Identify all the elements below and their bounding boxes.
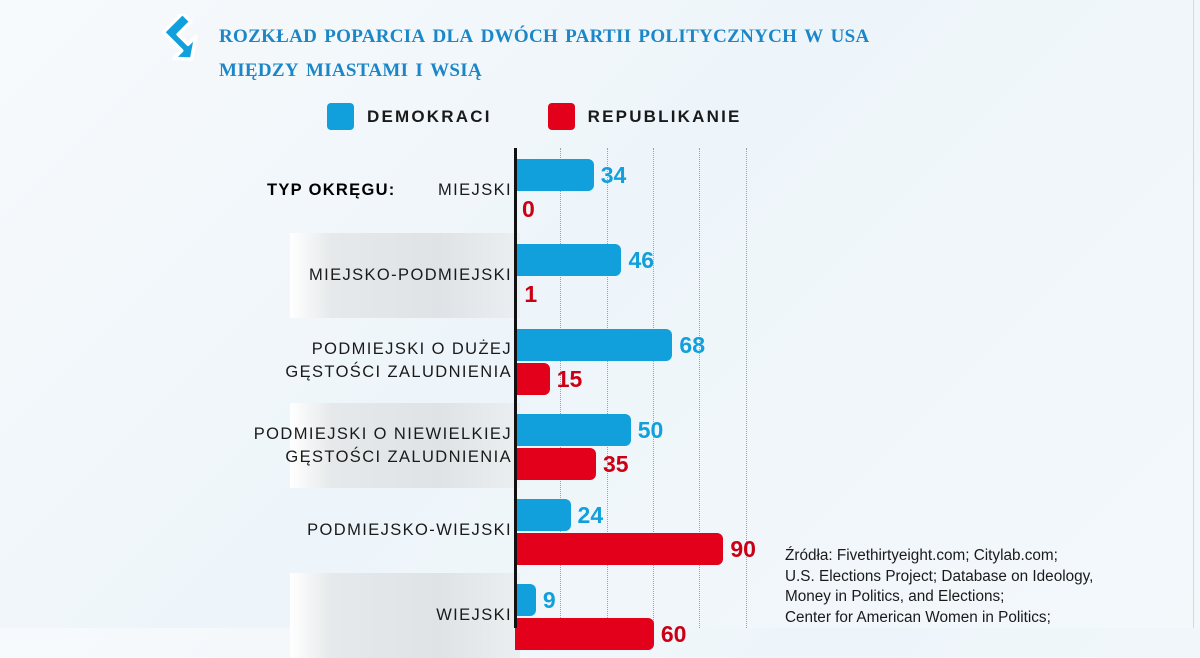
axis-category-tag: TYP OKRĘGU:: [267, 148, 396, 233]
category-label-line: PODMIEJSKO-WIEJSKI: [307, 519, 512, 542]
arrow-down-right-icon: [155, 14, 207, 66]
bar-group-rep[interactable]: 60: [515, 618, 686, 650]
bar-group-dem[interactable]: 68: [515, 329, 705, 361]
category-label: WIEJSKI: [436, 573, 512, 658]
bar-group-rep[interactable]: 35: [515, 448, 629, 480]
bar-value-dem: 50: [638, 417, 664, 444]
category-label-line: PODMIEJSKI O DUŻEJ: [312, 338, 512, 361]
chart-row: TYP OKRĘGU:MIEJSKI340: [0, 148, 1200, 233]
chart-row: MIEJSKO-PODMIEJSKI461: [0, 233, 1200, 318]
category-label-line: MIEJSKO-PODMIEJSKI: [309, 264, 512, 287]
legend-swatch-demokraci: [327, 103, 354, 130]
category-label: PODMIEJSKO-WIEJSKI: [307, 488, 512, 573]
bar-group-rep[interactable]: 15: [515, 363, 582, 395]
bar-group-rep[interactable]: 90: [515, 533, 756, 565]
category-label-line: PODMIEJSKI O NIEWIELKIEJ: [254, 423, 512, 446]
category-label-line: GĘSTOŚCI ZALUDNIENIA: [285, 446, 512, 469]
page-title-line1: Rozkład poparcia dla dwóch partii polity…: [219, 16, 870, 50]
bar-rep[interactable]: [515, 618, 654, 650]
category-label-line: WIEJSKI: [436, 604, 512, 627]
source-line-3: Money in Politics, and Elections;: [785, 587, 1185, 608]
bar-value-rep: 60: [661, 621, 687, 648]
bar-dem[interactable]: [515, 329, 672, 361]
chart-legend: DEMOKRACI REPUBLIKANIE: [327, 103, 742, 130]
bar-group-rep[interactable]: 1: [515, 278, 537, 310]
bar-rep[interactable]: [515, 533, 723, 565]
bar-value-dem: 46: [628, 247, 654, 274]
category-label: MIEJSKI: [438, 148, 512, 233]
bar-dem[interactable]: [515, 584, 536, 616]
source-line-2: U.S. Elections Project; Database on Ideo…: [785, 567, 1185, 588]
category-label-line: MIEJSKI: [438, 179, 512, 202]
page-title-line2: między miastami i wsią: [219, 50, 870, 84]
bar-value-rep: 90: [730, 536, 756, 563]
category-label: MIEJSKO-PODMIEJSKI: [309, 233, 512, 318]
bar-value-rep: 35: [603, 451, 629, 478]
bar-value-rep: 15: [557, 366, 583, 393]
bar-group-dem[interactable]: 34: [515, 159, 626, 191]
bar-value-dem: 9: [543, 587, 556, 614]
bar-value-rep: 0: [522, 196, 535, 223]
legend-label-demokraci: DEMOKRACI: [367, 107, 492, 127]
bar-value-dem: 68: [679, 332, 705, 359]
legend-item-republikanie[interactable]: REPUBLIKANIE: [548, 103, 742, 130]
chart-header: Rozkład poparcia dla dwóch partii polity…: [155, 12, 1055, 84]
bar-dem[interactable]: [515, 244, 621, 276]
bar-dem[interactable]: [515, 159, 594, 191]
legend-swatch-republikanie: [548, 103, 575, 130]
chart-axis-line: [514, 148, 517, 628]
bar-group-dem[interactable]: 9: [515, 584, 556, 616]
bar-group-dem[interactable]: 50: [515, 414, 663, 446]
category-label: PODMIEJSKI O NIEWIELKIEJGĘSTOŚCI ZALUDNI…: [254, 403, 512, 488]
source-note: Źródła: Fivethirtyeight.com; Citylab.com…: [785, 546, 1185, 628]
chart-row: PODMIEJSKI O DUŻEJGĘSTOŚCI ZALUDNIENIA68…: [0, 318, 1200, 403]
bar-value-dem: 34: [601, 162, 627, 189]
bar-value-dem: 24: [578, 502, 604, 529]
legend-label-republikanie: REPUBLIKANIE: [588, 107, 742, 127]
bar-rep[interactable]: [515, 448, 596, 480]
bar-dem[interactable]: [515, 499, 571, 531]
source-line-1: Źródła: Fivethirtyeight.com; Citylab.com…: [785, 546, 1185, 567]
category-label: PODMIEJSKI O DUŻEJGĘSTOŚCI ZALUDNIENIA: [285, 318, 512, 403]
bar-group-dem[interactable]: 46: [515, 244, 654, 276]
bar-dem[interactable]: [515, 414, 631, 446]
source-line-4: Center for American Women in Politics;: [785, 608, 1185, 629]
chart-row: PODMIEJSKI O NIEWIELKIEJGĘSTOŚCI ZALUDNI…: [0, 403, 1200, 488]
bar-group-rep[interactable]: 0: [515, 193, 535, 225]
bar-group-dem[interactable]: 24: [515, 499, 603, 531]
bar-value-rep: 1: [524, 281, 537, 308]
category-label-line: GĘSTOŚCI ZALUDNIENIA: [285, 361, 512, 384]
bar-rep[interactable]: [515, 363, 550, 395]
legend-item-demokraci[interactable]: DEMOKRACI: [327, 103, 492, 130]
